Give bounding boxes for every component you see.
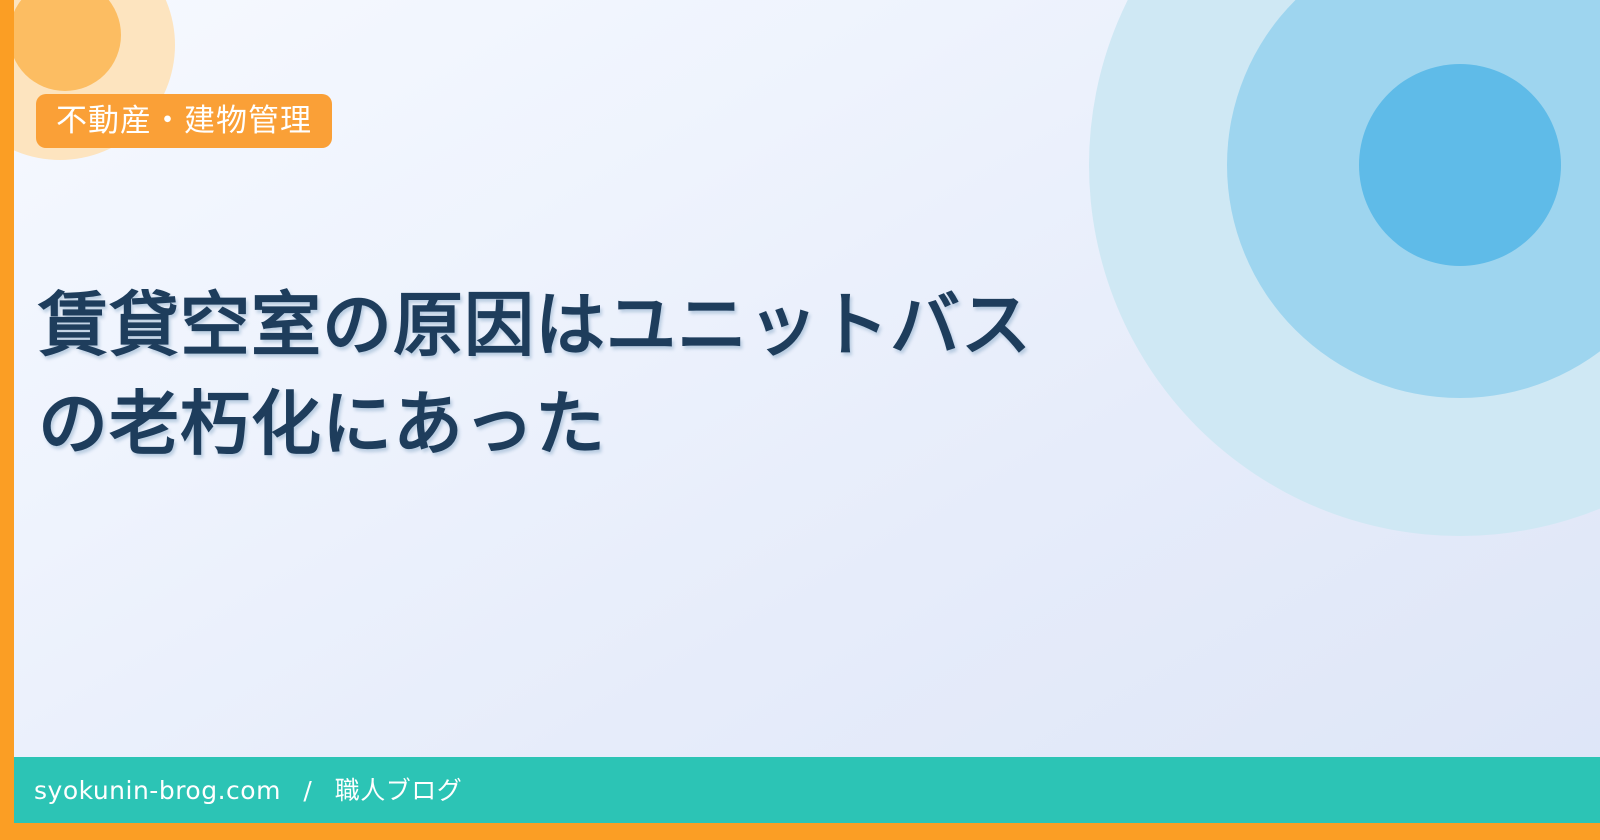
decorative-circle-orange-inner: [9, 0, 121, 91]
category-badge-label: 不動産・建物管理: [56, 106, 312, 137]
decorative-circle-blue-mid: [1227, 0, 1600, 398]
decorative-circle-blue-inner: [1359, 64, 1561, 266]
bottom-accent-bar: [0, 823, 1600, 840]
blog-card-canvas: 不動産・建物管理 賃貸空室の原因はユニットバス の老朽化にあった syokuni…: [0, 0, 1600, 840]
page-title-line-2: の老朽化にあった: [38, 375, 1058, 474]
decorative-circle-blue-outer: [1089, 0, 1600, 536]
footer-site-name: 職人ブログ: [335, 776, 463, 805]
page-title-line-1: 賃貸空室の原因はユニットバス: [38, 276, 1058, 375]
footer-bar: syokunin-brog.com / 職人ブログ: [0, 757, 1600, 823]
category-badge[interactable]: 不動産・建物管理: [36, 94, 332, 148]
footer-credit: syokunin-brog.com / 職人ブログ: [34, 778, 462, 803]
footer-separator: /: [303, 776, 312, 805]
footer-site-domain[interactable]: syokunin-brog.com: [34, 776, 281, 805]
left-accent-bar: [0, 0, 14, 840]
page-title: 賃貸空室の原因はユニットバス の老朽化にあった: [38, 276, 1058, 475]
